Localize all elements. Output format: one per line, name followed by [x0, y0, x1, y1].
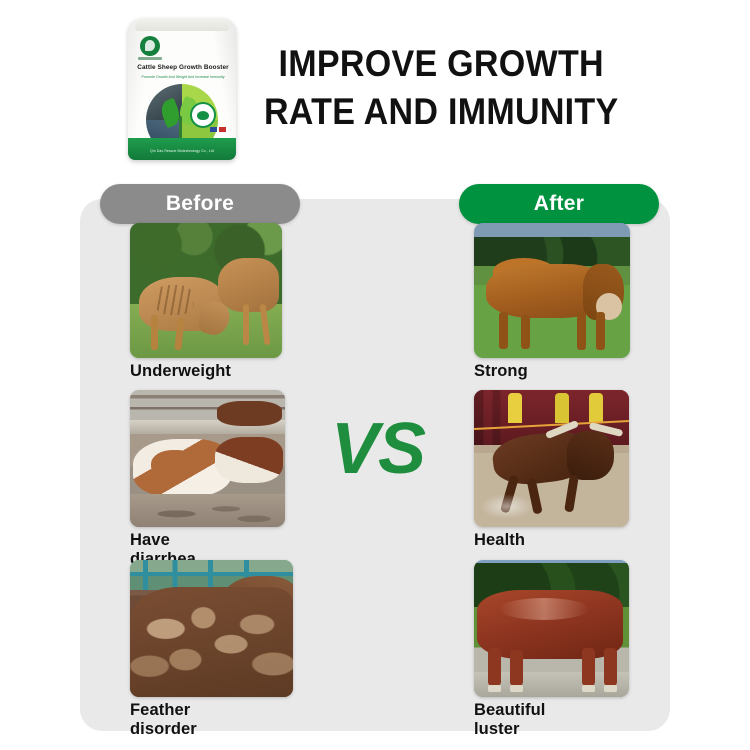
before-badge: Before	[100, 184, 300, 224]
quality-seal-icon	[190, 102, 216, 128]
photo-beautiful-luster-bull	[474, 560, 629, 697]
package-top-seal	[135, 18, 229, 31]
product-package-image: Cattle Sheep Growth Booster Promote Grow…	[128, 18, 236, 160]
package-product-name: Cattle Sheep Growth Booster	[137, 64, 229, 71]
photo-healthy-charging-bull	[474, 390, 629, 527]
photo-cows-with-diarrhea	[130, 390, 285, 527]
package-manufacturer-text: Qin Dao Rescue Biotechnology Co., Ltd	[128, 149, 236, 153]
brand-logo-icon	[140, 36, 160, 56]
headline-line-2: RATE AND IMMUNITY	[248, 88, 634, 136]
package-tagline: Promote Growth And Weight And Increase I…	[140, 75, 226, 80]
after-badge-label: After	[534, 192, 585, 216]
before-badge-label: Before	[166, 192, 234, 216]
flag-icon-red	[219, 127, 226, 132]
header: Cattle Sheep Growth Booster Promote Grow…	[0, 0, 750, 175]
photo-strong-bull	[474, 223, 630, 358]
headline-line-1: IMPROVE GROWTH	[248, 40, 634, 88]
package-flag-icons	[210, 127, 226, 132]
after-badge: After	[459, 184, 659, 224]
vs-label: VS	[318, 408, 438, 490]
infographic-page: Cattle Sheep Growth Booster Promote Grow…	[0, 0, 750, 750]
page-title: IMPROVE GROWTH RATE AND IMMUNITY	[248, 40, 634, 136]
flag-icon-blue	[210, 127, 217, 132]
brand-logo-underline	[138, 57, 162, 60]
package-body: Cattle Sheep Growth Booster Promote Grow…	[128, 18, 236, 160]
photo-feather-disorder-hide	[130, 560, 293, 697]
photo-underweight-cows	[130, 223, 282, 358]
